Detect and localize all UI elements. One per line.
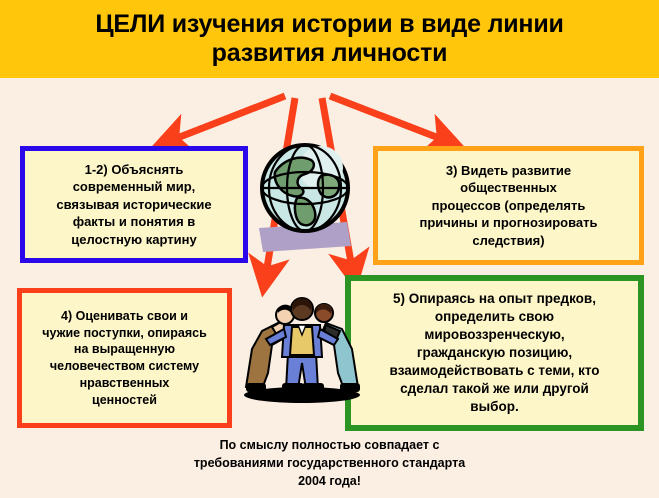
arrow-to-box-3 xyxy=(330,96,444,140)
slide-canvas: ЦЕЛИ изучения истории в виде линии разви… xyxy=(0,0,659,498)
goal-box-1-2-text: 1-2) Объяснять современный мир, связывая… xyxy=(50,161,217,248)
goal-box-3: 3) Видеть развитие общественных процессо… xyxy=(373,146,644,265)
globe-landmass-east-icon xyxy=(318,175,339,198)
people-illustration xyxy=(228,283,376,405)
page-title: ЦЕЛИ изучения истории в виде линии разви… xyxy=(95,10,563,69)
goal-box-5-text: 5) Опираясь на опыт предков, определить … xyxy=(383,290,605,416)
globe-illustration xyxy=(251,140,363,258)
goal-box-5: 5) Опираясь на опыт предков, определить … xyxy=(345,275,644,431)
goal-box-3-text: 3) Видеть развитие общественных процессо… xyxy=(413,162,603,249)
goal-box-1-2: 1-2) Объяснять современный мир, связывая… xyxy=(20,146,248,263)
footer-caption: По смыслу полностью совпадает с требован… xyxy=(0,437,659,490)
goal-box-4-text: 4) Оценивать свои и чужие поступки, опир… xyxy=(36,308,213,409)
slide-header-banner: ЦЕЛИ изучения истории в виде линии разви… xyxy=(0,0,659,78)
goal-box-4: 4) Оценивать свои и чужие поступки, опир… xyxy=(17,288,232,428)
arrow-to-box-1 xyxy=(172,96,285,140)
